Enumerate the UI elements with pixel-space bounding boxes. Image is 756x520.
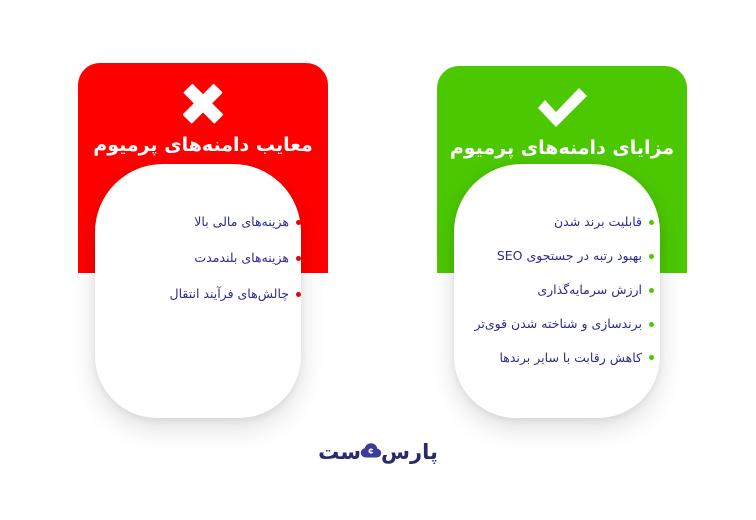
list-item: کاهش رقابت با سایر برندها	[460, 350, 654, 367]
list-item-label: هزینه‌های مالی بالا	[194, 214, 289, 231]
bullet-icon	[296, 220, 301, 225]
list-item: بهبود رتبه در جستجوی SEO	[460, 248, 654, 265]
cons-list: هزینه‌های مالی بالا هزینه‌های بلندمدت چا…	[95, 214, 301, 303]
infographic-stage: معایب دامنه‌های پرمیوم هزینه‌های مالی با…	[0, 0, 756, 520]
list-item-label: ارزش سرمایه‌گذاری	[537, 282, 642, 299]
list-item-label: هزینه‌های بلندمدت	[194, 250, 289, 267]
list-item-label: چالش‌های فرآیند انتقال	[169, 286, 289, 303]
pros-list: قابلیت برند شدن بهبود رتبه در جستجوی SEO…	[454, 214, 660, 366]
pros-panel: قابلیت برند شدن بهبود رتبه در جستجوی SEO…	[454, 164, 660, 418]
cross-icon	[78, 79, 328, 129]
list-item-label: کاهش رقابت با سایر برندها	[499, 350, 642, 367]
list-item-label: قابلیت برند شدن	[554, 214, 642, 231]
bullet-icon	[649, 322, 654, 327]
list-item: هزینه‌های مالی بالا	[109, 214, 301, 231]
cloud-icon	[360, 442, 382, 464]
bullet-icon	[296, 292, 301, 297]
bullet-icon	[649, 288, 654, 293]
logo-text-left: ست	[318, 440, 361, 464]
list-item: قابلیت برند شدن	[460, 214, 654, 231]
list-item-label: برندسازی و شناخته شدن قوی‌تر	[474, 316, 642, 333]
check-icon	[437, 82, 687, 132]
list-item: هزینه‌های بلندمدت	[109, 250, 301, 267]
list-item: برندسازی و شناخته شدن قوی‌تر	[460, 316, 654, 333]
list-item-label: بهبود رتبه در جستجوی SEO	[497, 248, 642, 265]
pros-card-title: مزایای دامنه‌های پرمیوم	[437, 136, 687, 161]
bullet-icon	[649, 254, 654, 259]
brand-logo: پارس ست	[0, 440, 756, 464]
bullet-icon	[296, 256, 301, 261]
cons-card-title: معایب دامنه‌های پرمیوم	[78, 133, 328, 158]
list-item: ارزش سرمایه‌گذاری	[460, 282, 654, 299]
cons-panel: هزینه‌های مالی بالا هزینه‌های بلندمدت چا…	[95, 164, 301, 418]
bullet-icon	[649, 220, 654, 225]
logo-text-right: پارس	[381, 440, 438, 464]
bullet-icon	[649, 355, 654, 360]
list-item: چالش‌های فرآیند انتقال	[109, 286, 301, 303]
